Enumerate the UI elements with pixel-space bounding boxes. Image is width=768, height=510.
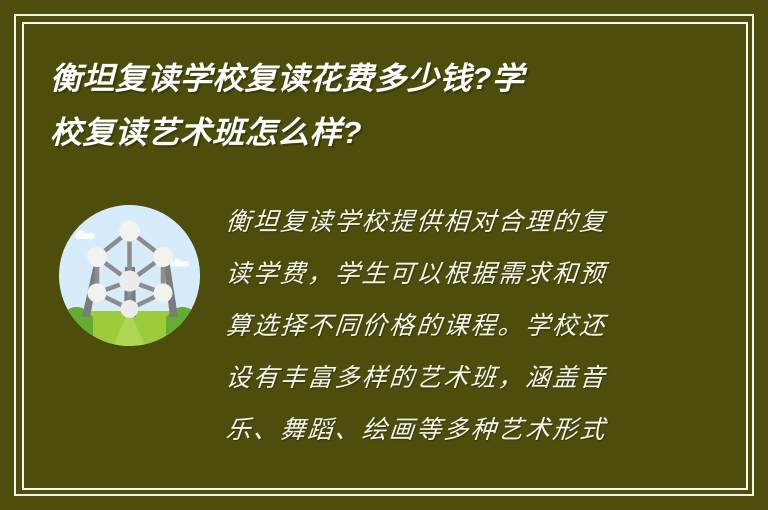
content-row: 衡坦复读学校提供相对合理的复 读学费，学生可以根据需求和预 算选择不同价格的课程…: [0, 196, 768, 486]
body-line-1: 衡坦复读学校提供相对合理的复: [224, 196, 681, 248]
poster-canvas: 衡坦复读学校复读花费多少钱?学 校复读艺术班怎么样?: [0, 0, 768, 510]
title-line-2: 校复读艺术班怎么样?: [50, 106, 730, 160]
body-paragraph: 衡坦复读学校提供相对合理的复 读学费，学生可以根据需求和预 算选择不同价格的课程…: [226, 196, 678, 456]
body-line-3: 算选择不同价格的课程。学校还: [224, 300, 681, 352]
body-line-5: 乐、舞蹈、绘画等多种艺术形式: [224, 404, 681, 456]
body-line-2: 读学费，学生可以根据需求和预: [224, 248, 681, 300]
title-line-1: 衡坦复读学校复读花费多少钱?学: [50, 52, 730, 106]
atomium-thumbnail: [59, 205, 200, 346]
body-line-4: 设有丰富多样的艺术班，涵盖音: [224, 352, 681, 404]
page-title: 衡坦复读学校复读花费多少钱?学 校复读艺术班怎么样?: [50, 52, 710, 160]
atomium-icon: [59, 205, 200, 346]
